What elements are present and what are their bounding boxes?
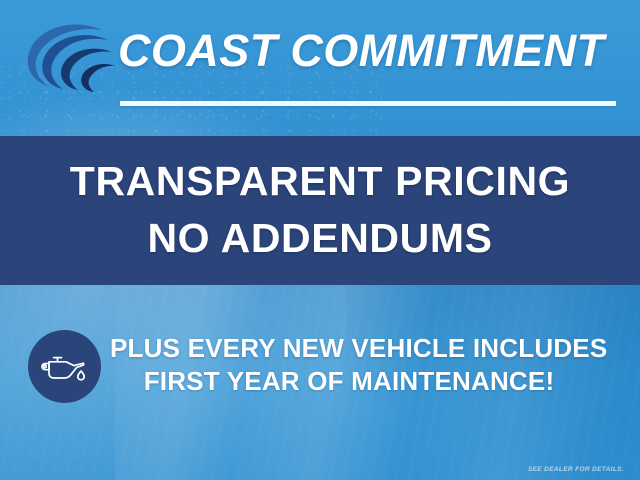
coast-wave-logo-icon [16, 16, 120, 100]
coast-commitment-banner: COAST COMMITMENT TRANSPARENT PRICING NO … [0, 0, 640, 480]
promo-section: PLUS EVERY NEW VEHICLE INCLUDES FIRST YE… [0, 320, 640, 416]
banner-header: COAST COMMITMENT [0, 0, 640, 136]
oil-can-icon [28, 330, 101, 403]
promo-line-1: PLUS EVERY NEW VEHICLE INCLUDES [110, 332, 588, 365]
page-title: COAST COMMITMENT [118, 20, 630, 82]
promo-text-block: PLUS EVERY NEW VEHICLE INCLUDES FIRST YE… [110, 332, 588, 398]
promo-line-2: FIRST YEAR OF MAINTENANCE! [110, 365, 588, 398]
headline-band: TRANSPARENT PRICING NO ADDENDUMS [0, 136, 640, 285]
headline-line-1: TRANSPARENT PRICING [0, 158, 640, 205]
header-divider [120, 101, 616, 106]
disclaimer-text: SEE DEALER FOR DETAILS. [528, 466, 624, 473]
headline-line-2: NO ADDENDUMS [0, 215, 640, 262]
